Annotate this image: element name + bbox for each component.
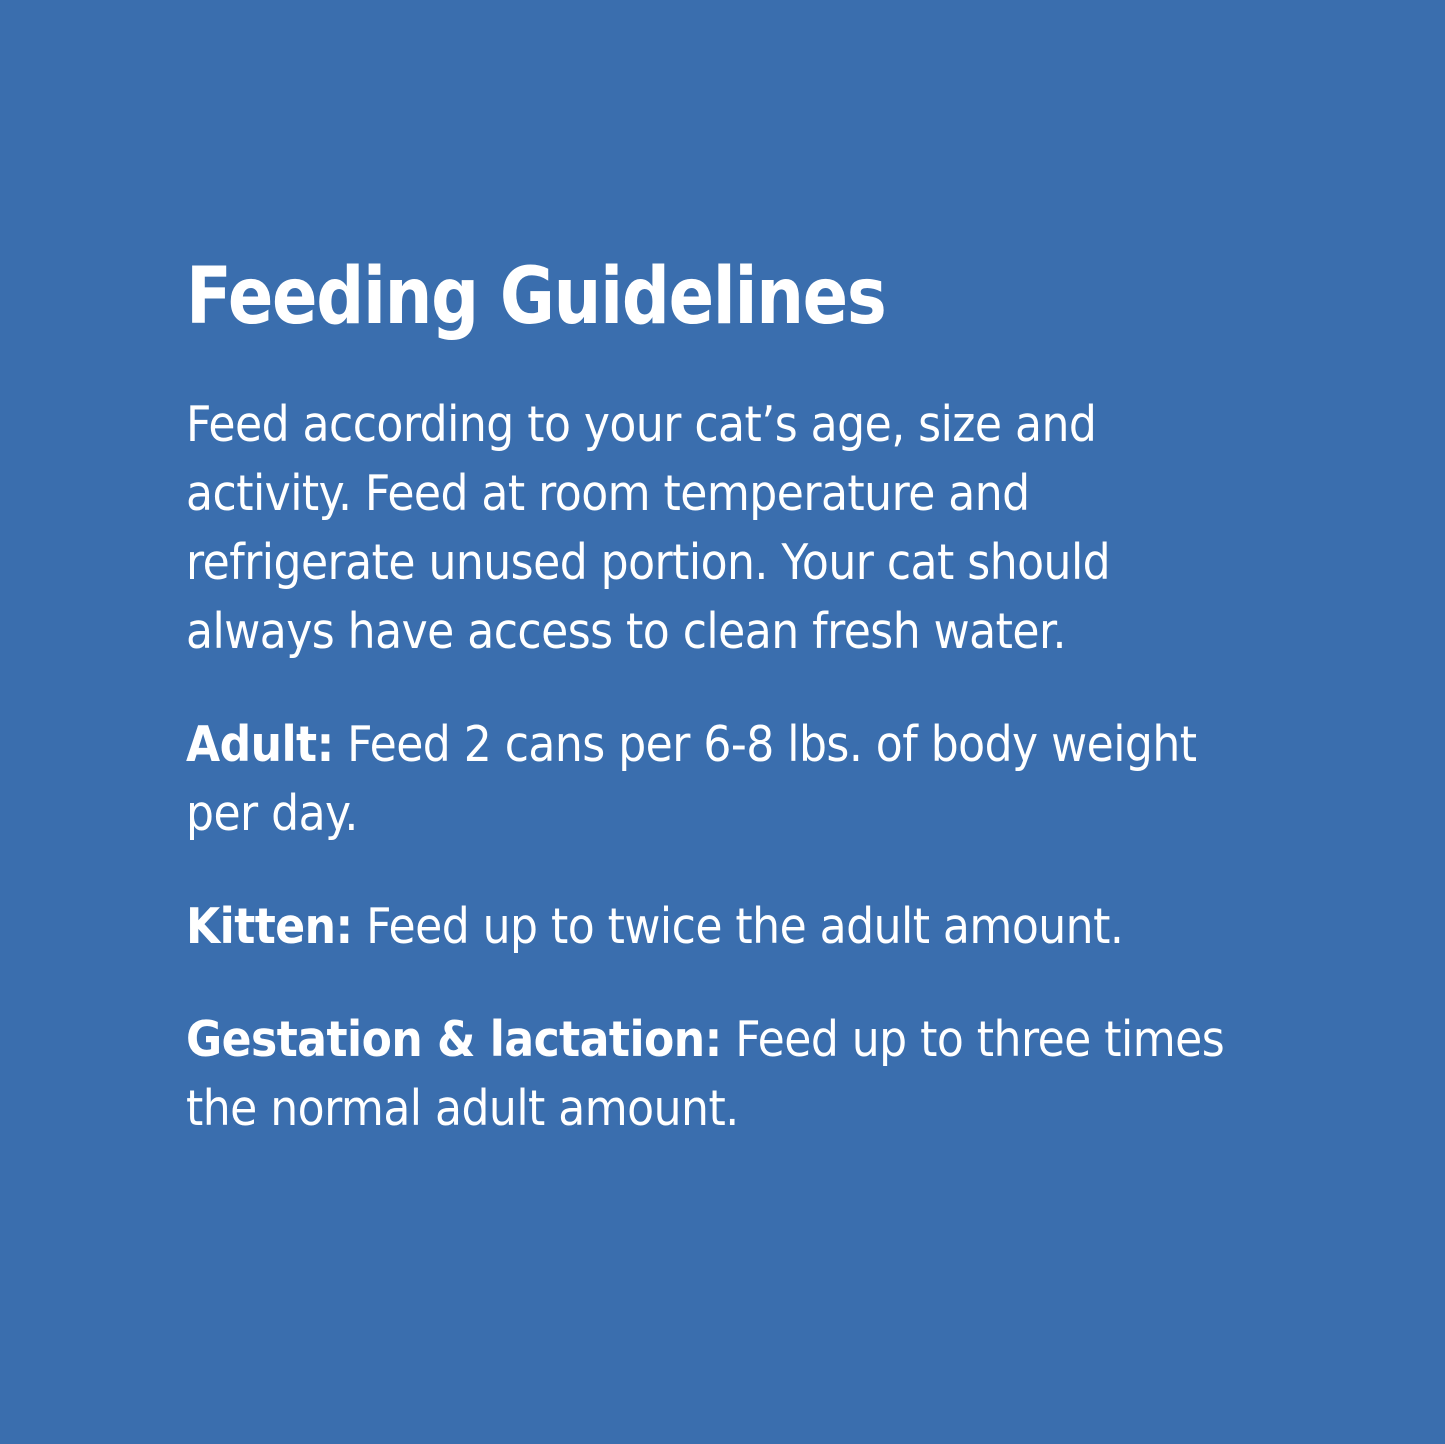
feeding-entry-adult: Adult: Feed 2 cans per 6-8 lbs. of body … [186,710,1266,848]
feeding-entry-label-gestation-lactation: Gestation & lactation: [186,1011,722,1068]
feeding-guidelines-panel: Feeding Guidelines Feed according to you… [0,0,1445,1444]
intro-paragraph: Feed according to your cat’s age, size a… [186,390,1266,666]
feeding-entry-kitten: Kitten: Feed up to twice the adult amoun… [186,892,1266,961]
page-title: Feeding Guidelines [186,258,1123,336]
feeding-entry-text-kitten: Feed up to twice the adult amount. [366,898,1123,955]
content-column: Feeding Guidelines Feed according to you… [186,258,1276,1143]
feeding-entry-label-adult: Adult: [186,716,334,773]
feeding-entry-gestation-lactation: Gestation & lactation: Feed up to three … [186,1005,1266,1143]
feeding-entry-label-kitten: Kitten: [186,898,353,955]
